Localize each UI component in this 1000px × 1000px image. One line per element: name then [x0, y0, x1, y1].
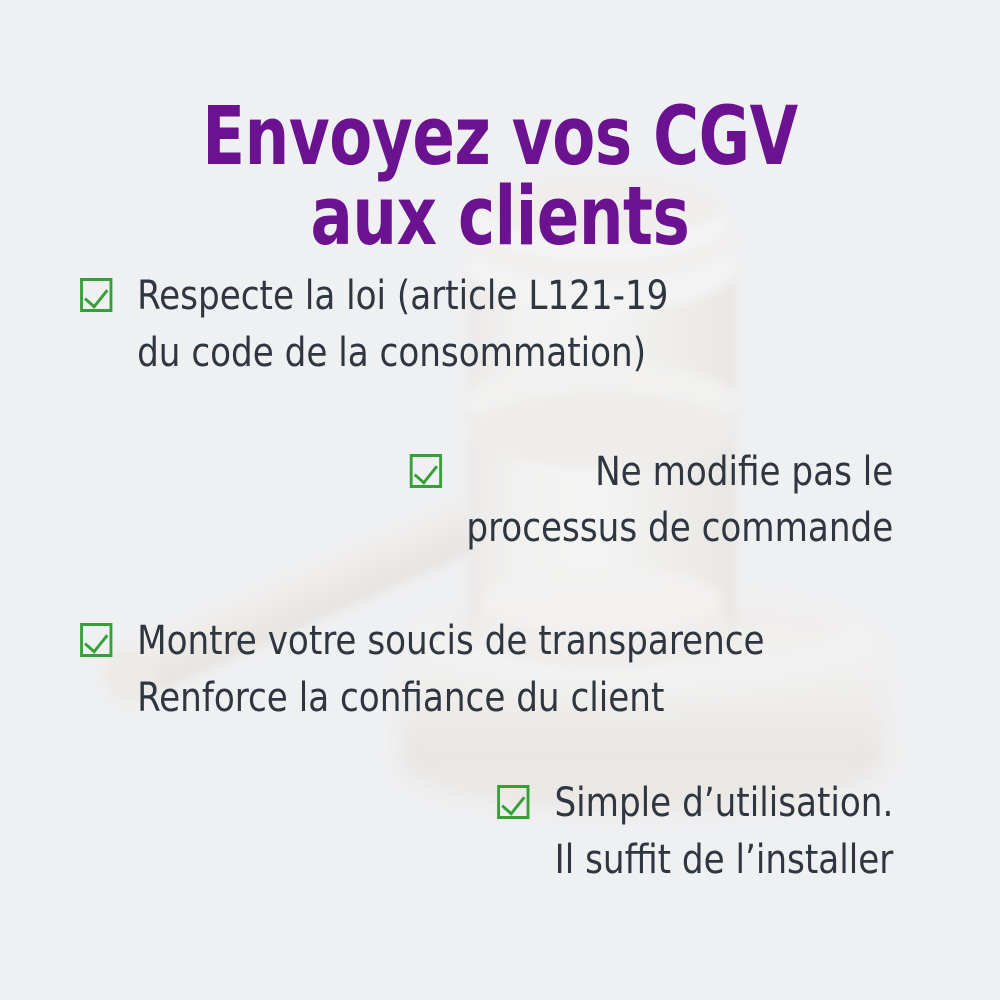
page-title: Envoyez vos CGV aux clients — [70, 98, 930, 257]
list-item-line-1: Montre votre soucis de transparence — [137, 618, 764, 664]
list-item-line-2: Il suffit de l’installer — [555, 837, 894, 883]
list-item: Ne modifie pas leprocessus de commande — [25, 444, 975, 558]
list-item: Respecte la loi (article L121-19du code … — [25, 268, 975, 382]
list-item-line-1: Simple d’utilisation. — [554, 780, 893, 826]
list-item-label: Ne modifie pas leprocessus de commande — [466, 444, 893, 558]
list-item-line-2: processus de commande — [466, 505, 893, 551]
list-item-line-1: Respecte la loi (article L121-19 — [137, 273, 668, 319]
page-title-line-2: aux clients — [70, 178, 930, 257]
list-item: Simple d’utilisation.Il suffit de l’inst… — [25, 775, 975, 889]
spacer — [0, 382, 1000, 444]
list-item-line-2: Renforce la confiance du client — [137, 675, 664, 721]
poster-canvas: Envoyez vos CGV aux clients Respecte la … — [0, 0, 1000, 1000]
spacer — [0, 727, 1000, 775]
checkbox-checked-icon — [497, 785, 529, 819]
checkbox-checked-icon — [409, 454, 441, 488]
poster-content: Envoyez vos CGV aux clients Respecte la … — [0, 0, 1000, 1000]
benefits-list: Respecte la loi (article L121-19du code … — [0, 268, 1000, 888]
checkbox-checked-icon — [80, 623, 112, 657]
list-item-line-2: du code de la consommation) — [137, 330, 646, 376]
list-item: Montre votre soucis de transparenceRenfo… — [25, 613, 975, 727]
checkbox-checked-icon — [80, 278, 112, 312]
list-item-label: Montre votre soucis de transparenceRenfo… — [137, 613, 764, 727]
list-item-label: Respecte la loi (article L121-19du code … — [137, 268, 668, 382]
spacer — [0, 557, 1000, 613]
page-title-line-1: Envoyez vos CGV — [70, 98, 930, 177]
list-item-label: Simple d’utilisation.Il suffit de l’inst… — [554, 775, 893, 889]
list-item-line-1: Ne modifie pas le — [595, 449, 893, 495]
